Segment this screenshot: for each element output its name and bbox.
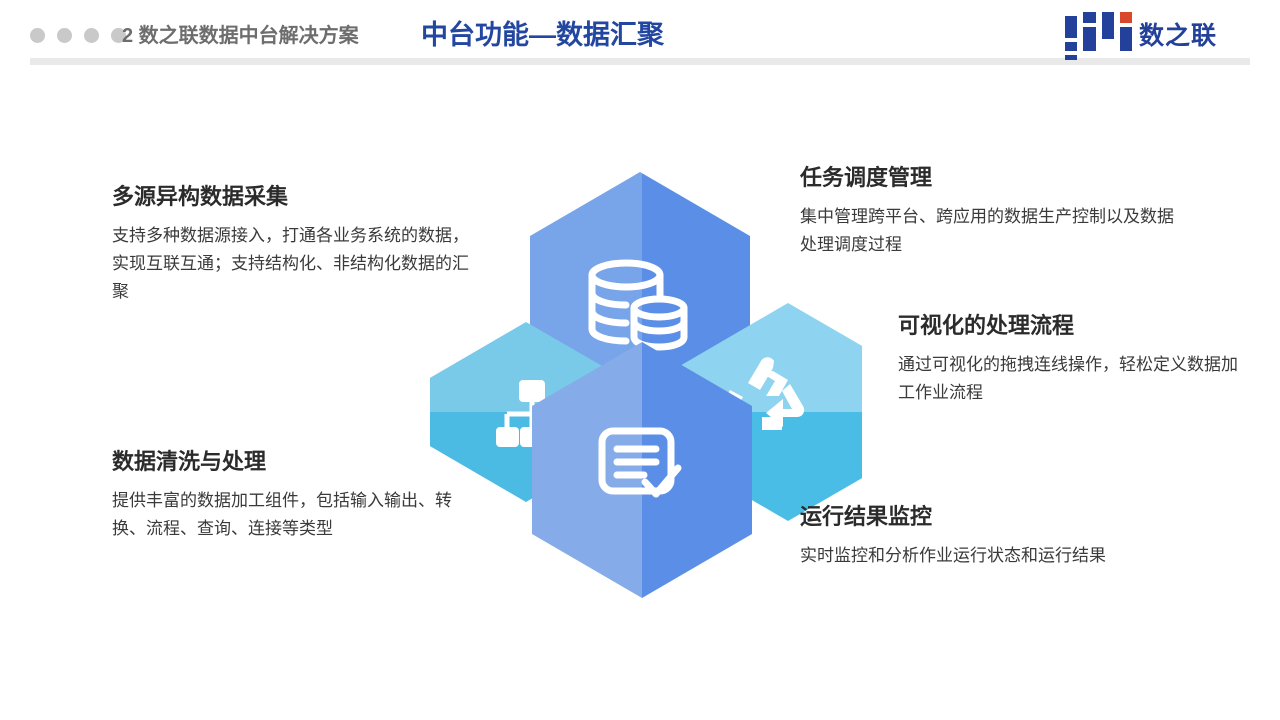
header-dot-group <box>30 28 126 43</box>
feature-block-monitor: 运行结果监控 实时监控和分析作业运行状态和运行结果 <box>800 502 1180 570</box>
feature-title-monitor: 运行结果监控 <box>800 502 1180 532</box>
feature-title-clean: 数据清洗与处理 <box>112 447 482 477</box>
slide-header: 2 数之联数据中台解决方案 中台功能—数据汇聚 数之联 <box>0 0 1280 64</box>
feature-block-clean: 数据清洗与处理 提供丰富的数据加工组件，包括输入输出、转换、流程、查询、连接等类… <box>112 447 482 543</box>
brand-logo: 数之联 <box>1065 12 1250 60</box>
feature-title-schedule: 任务调度管理 <box>800 163 1180 193</box>
logo-wordmark: 数之联 <box>1139 22 1217 50</box>
feature-block-visual: 可视化的处理流程 通过可视化的拖拽连线操作，轻松定义数据加工作业流程 <box>898 311 1243 407</box>
logo-mark-icon <box>1065 12 1133 60</box>
feature-block-schedule: 任务调度管理 集中管理跨平台、跨应用的数据生产控制以及数据处理调度过程 <box>800 163 1180 259</box>
feature-body-schedule: 集中管理跨平台、跨应用的数据生产控制以及数据处理调度过程 <box>800 203 1180 259</box>
feature-title-visual: 可视化的处理流程 <box>898 311 1243 341</box>
slide-canvas: 2 数之联数据中台解决方案 中台功能—数据汇聚 数之联 <box>0 0 1280 720</box>
header-dot-1 <box>30 28 45 43</box>
feature-title-collect: 多源异构数据采集 <box>112 182 482 212</box>
header-dot-2 <box>57 28 72 43</box>
feature-body-collect: 支持多种数据源接入，打通各业务系统的数据，实现互联互通；支持结构化、非结构化数据… <box>112 222 482 306</box>
header-dot-3 <box>84 28 99 43</box>
page-title: 中台功能—数据汇聚 <box>421 18 664 52</box>
feature-body-visual: 通过可视化的拖拽连线操作，轻松定义数据加工作业流程 <box>898 351 1243 407</box>
feature-body-monitor: 实时监控和分析作业运行状态和运行结果 <box>800 542 1180 570</box>
feature-body-clean: 提供丰富的数据加工组件，包括输入输出、转换、流程、查询、连接等类型 <box>112 487 482 543</box>
header-section-kicker: 2 数之联数据中台解决方案 <box>122 23 359 49</box>
feature-block-collect: 多源异构数据采集 支持多种数据源接入，打通各业务系统的数据，实现互联互通；支持结… <box>112 182 482 306</box>
hexagon-diamond-diagram <box>430 168 862 602</box>
